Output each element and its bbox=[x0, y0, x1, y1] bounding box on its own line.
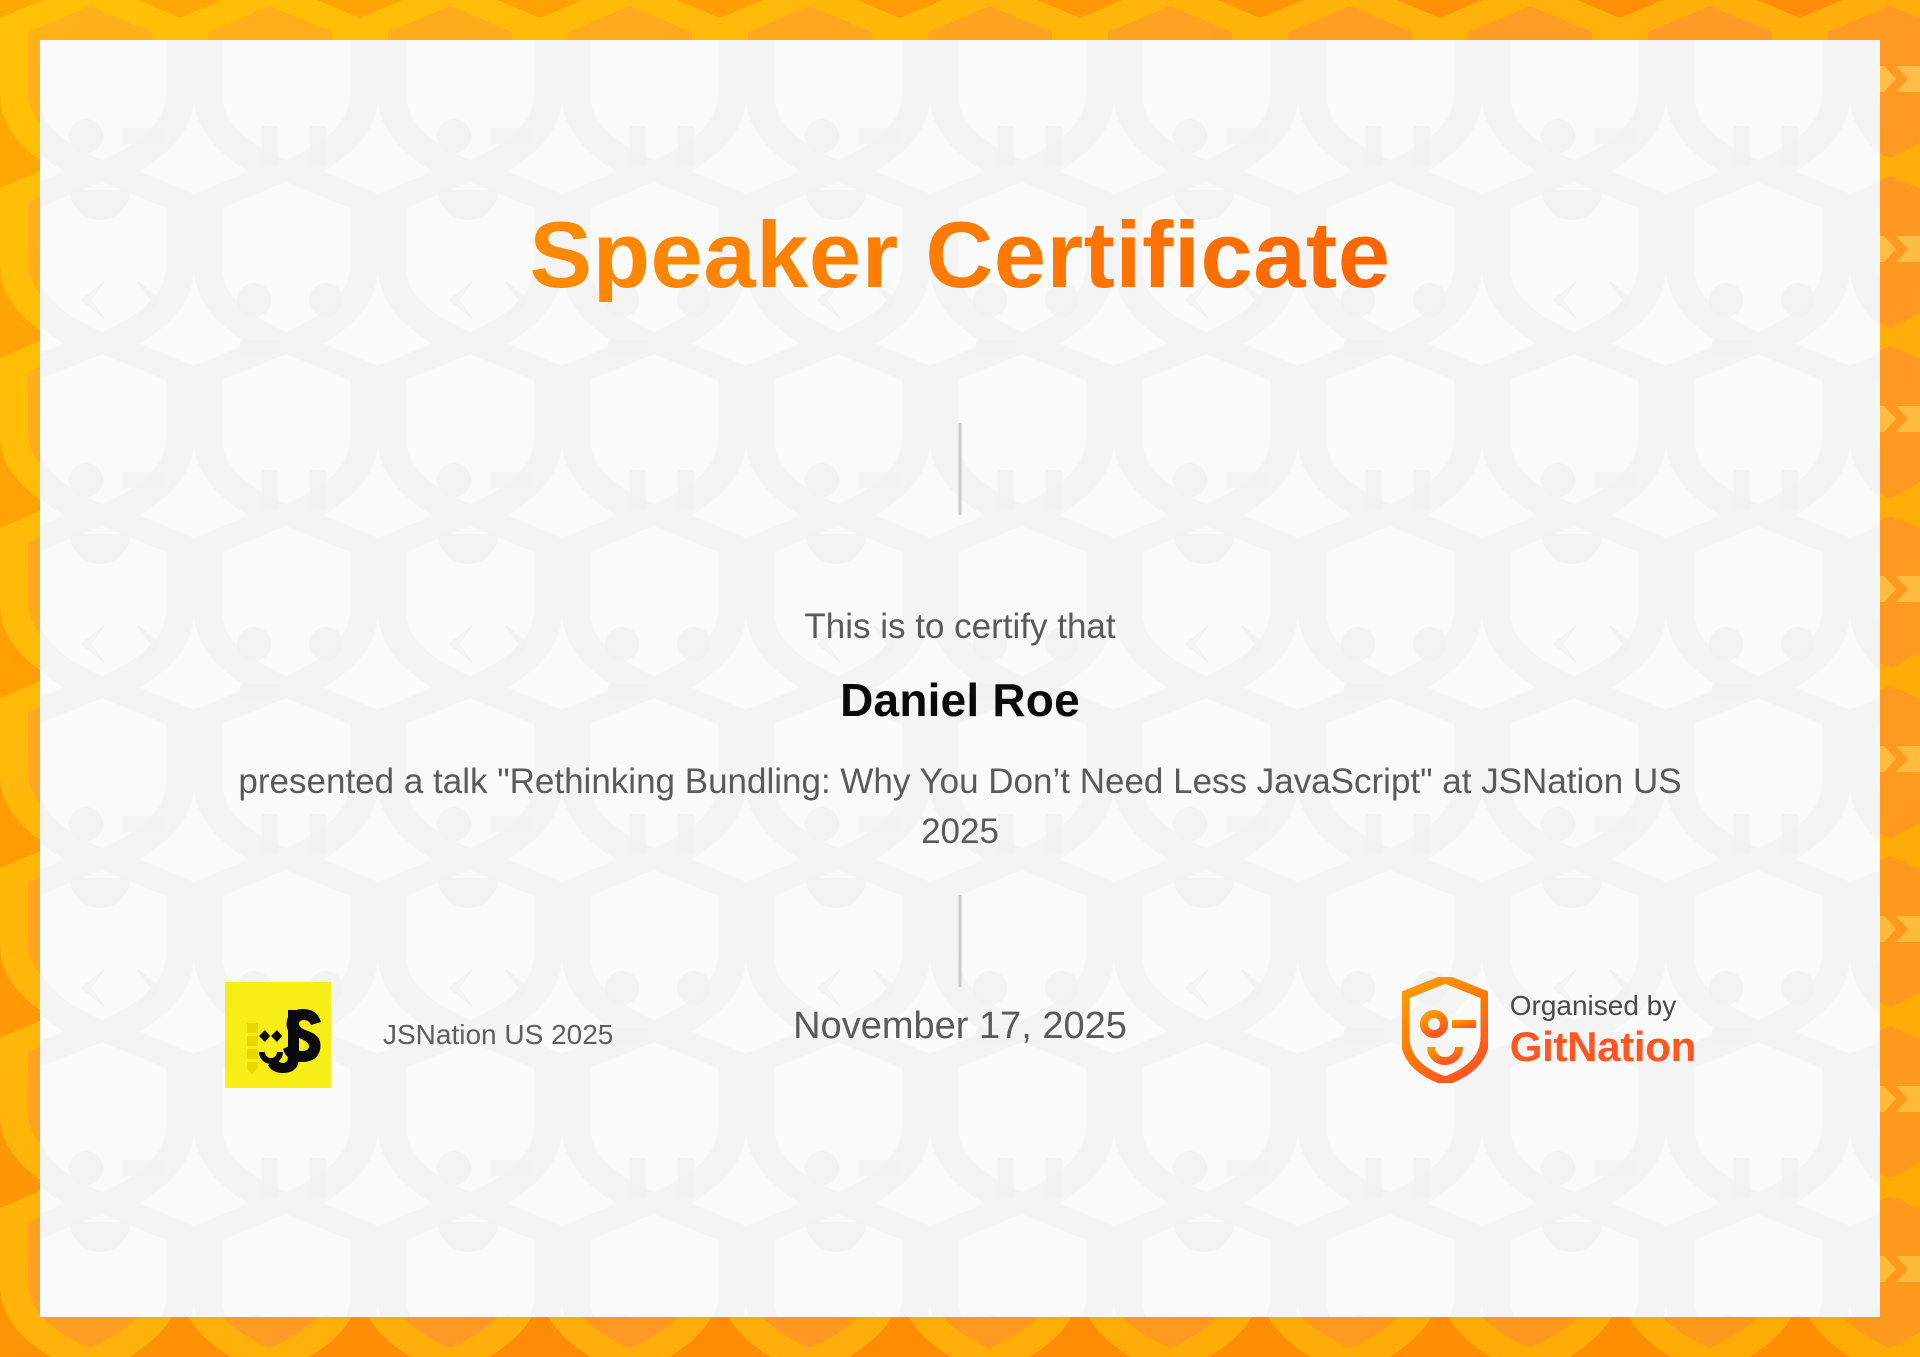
certificate-date: November 17, 2025 bbox=[793, 1005, 1127, 1048]
event-name-label: JSNation US 2025 bbox=[383, 1019, 613, 1051]
certificate-body: This is to certify that Daniel Roe prese… bbox=[40, 606, 1880, 856]
js-logo-icon bbox=[225, 982, 331, 1088]
footer-event-block: JSNation US 2025 bbox=[225, 975, 613, 1095]
divider-bottom bbox=[959, 895, 962, 987]
certificate-page: Speaker Certificate This is to certify t… bbox=[0, 0, 1920, 1357]
organised-by-label: Organised by bbox=[1510, 991, 1696, 1020]
certificate-card: Speaker Certificate This is to certify t… bbox=[40, 40, 1880, 1317]
organiser-name: GitNation bbox=[1510, 1025, 1696, 1069]
certificate-footer: JSNation US 2025 November 17, 2025 bbox=[40, 975, 1880, 1095]
gitnation-shield-icon bbox=[1402, 977, 1488, 1083]
divider-top bbox=[959, 423, 962, 515]
talk-statement: presented a talk "Rethinking Bundling: W… bbox=[225, 757, 1695, 856]
footer-organiser-block: Organised by GitNation bbox=[1402, 977, 1696, 1083]
page-title: Speaker Certificate bbox=[40, 208, 1880, 302]
recipient-name: Daniel Roe bbox=[40, 674, 1880, 727]
certify-prefix: This is to certify that bbox=[40, 606, 1880, 648]
